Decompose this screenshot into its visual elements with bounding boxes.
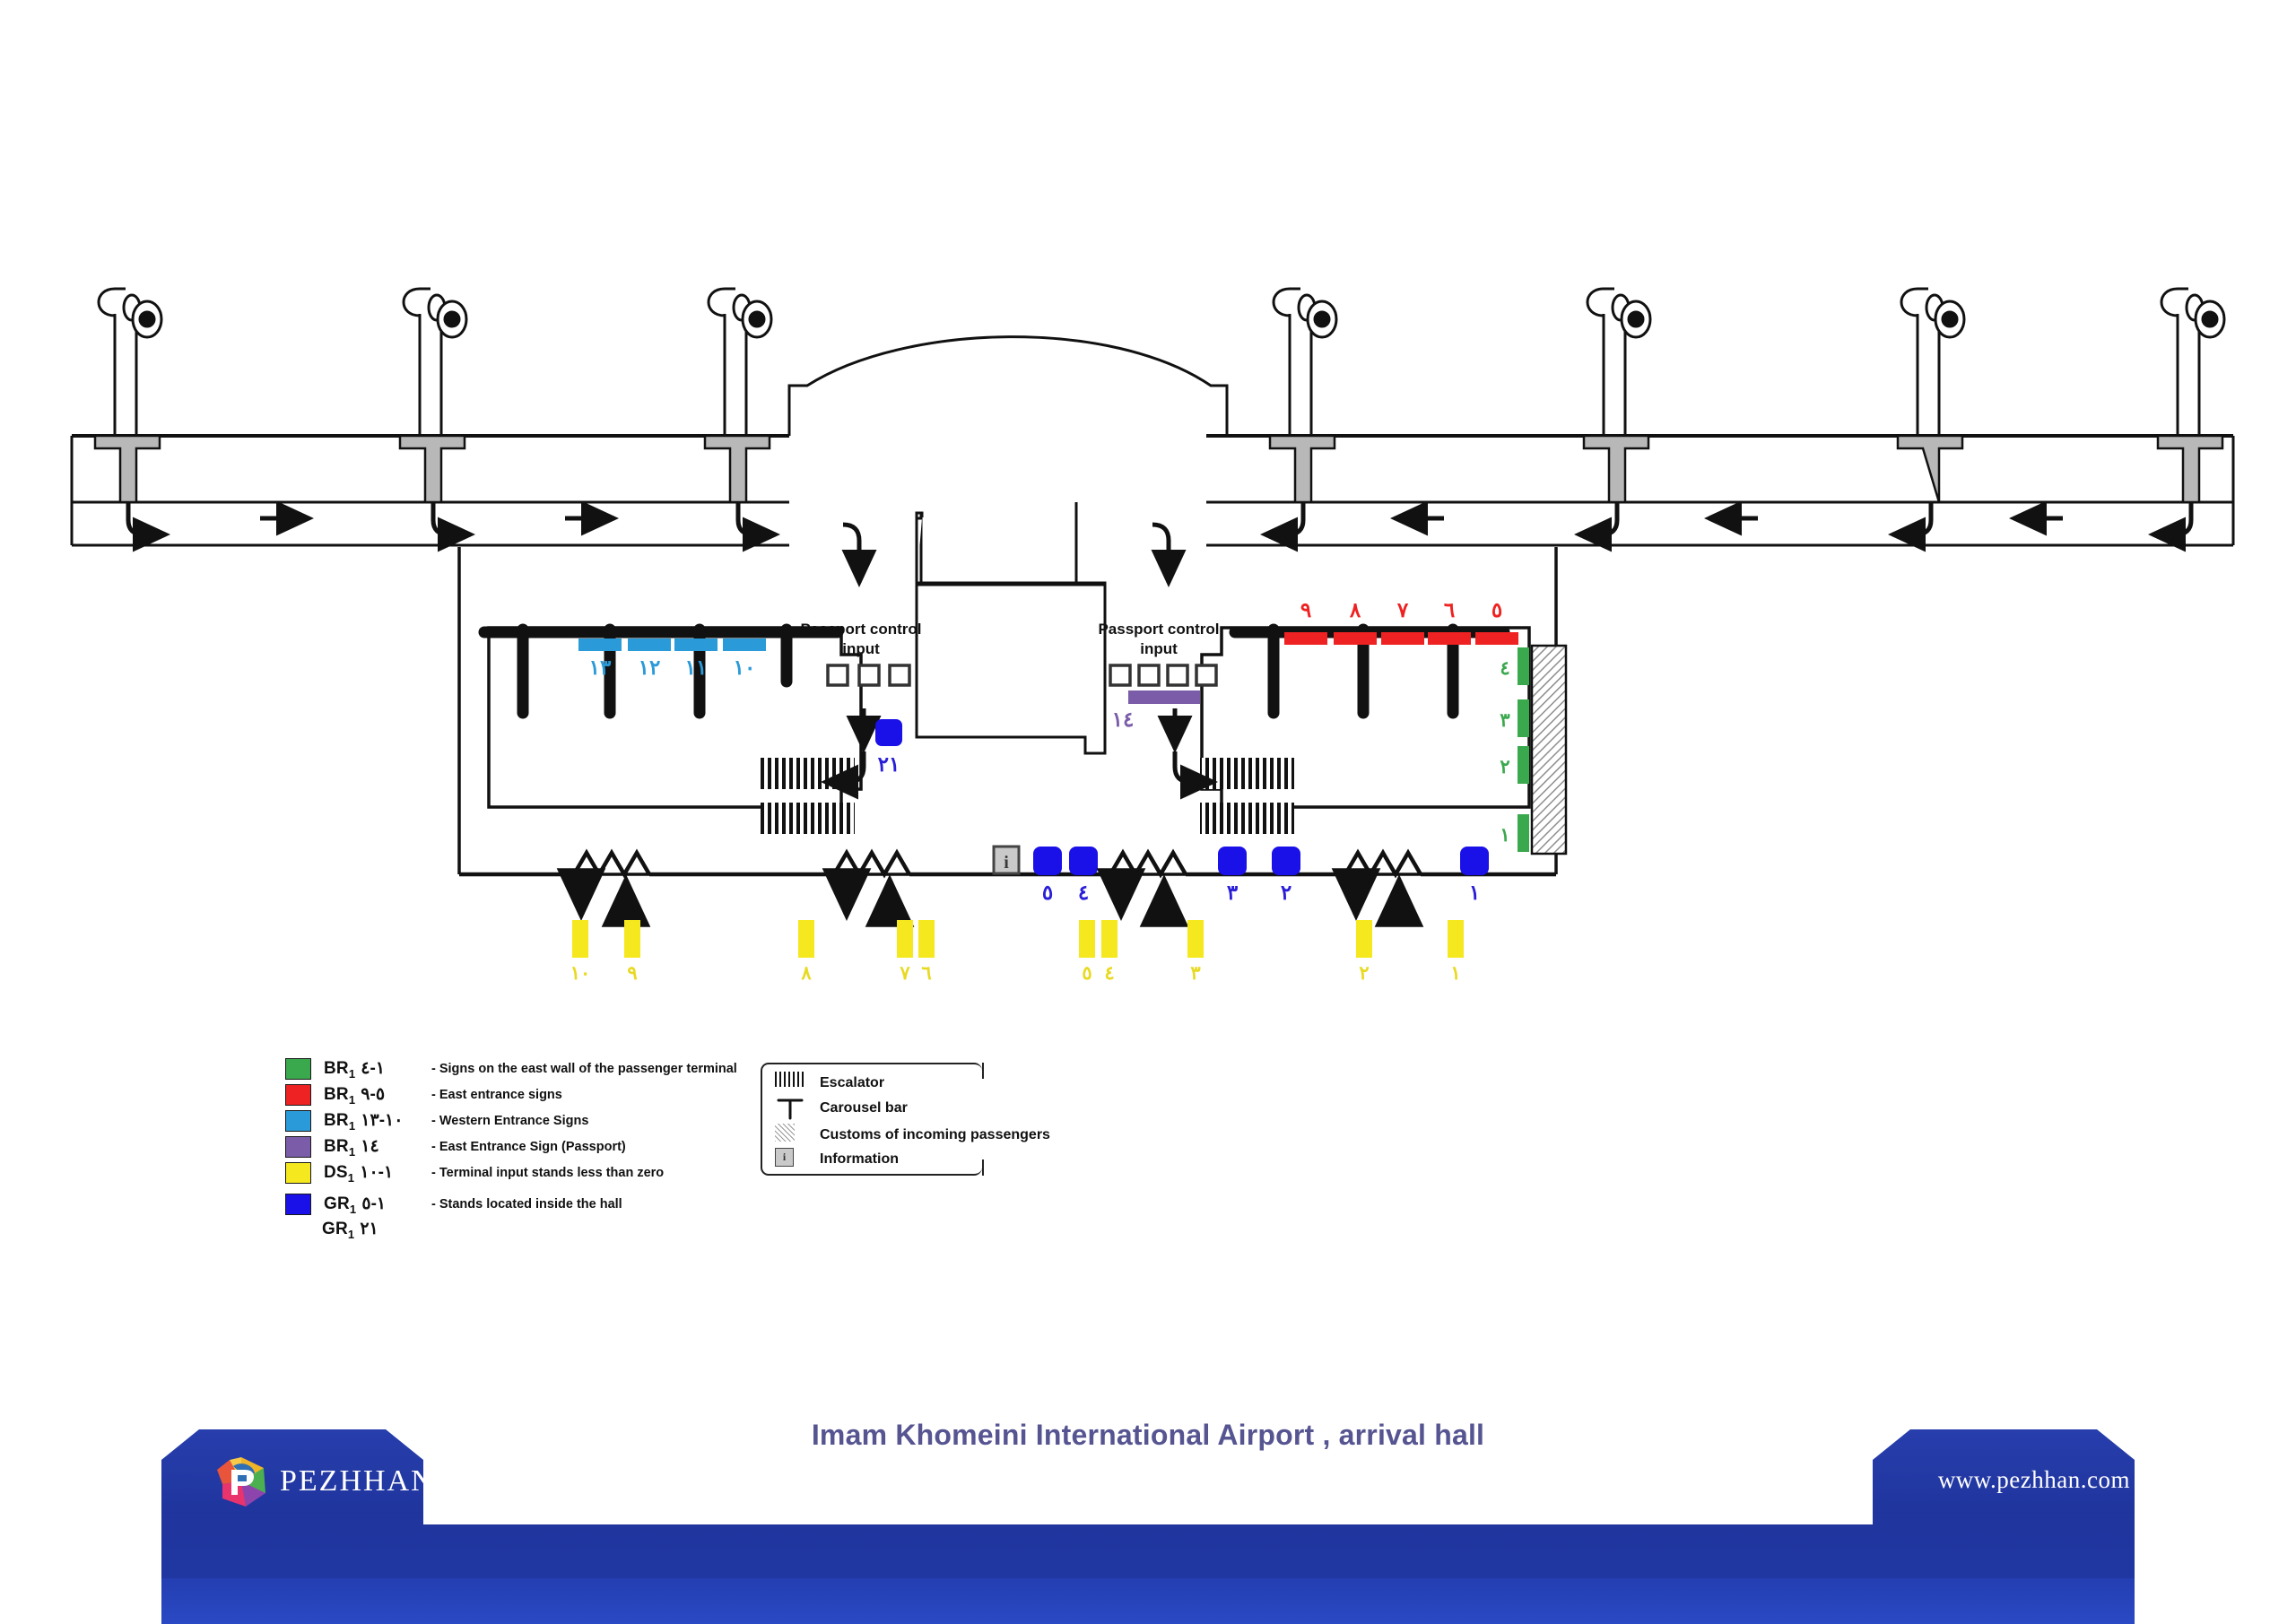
hall-stand-21: ٢١ [875, 719, 902, 776]
escalator-icon [1200, 803, 1294, 834]
customs-hatch-icon [1532, 646, 1566, 854]
legend-description: - East Entrance Sign (Passport) [431, 1140, 626, 1154]
legend-description: - Western Entrance Signs [431, 1114, 588, 1128]
passport-sign [1128, 690, 1200, 704]
legend-code: BR1١-٤ [324, 1058, 431, 1081]
sign-number: ١٢ [639, 656, 661, 679]
terminal-facade [789, 337, 1227, 436]
information-icon: i [994, 847, 1019, 873]
brand-logo: PEZHHAN [213, 1454, 435, 1509]
west-baggage-hall: ١٣ ١٢ ١١ ١٠ [484, 628, 861, 834]
stand-number: ٩ [627, 963, 637, 984]
passport-label-west-line1: Passport control [800, 621, 921, 638]
sign-number: ٩ [1300, 598, 1311, 621]
door-flow-arrows [581, 879, 1399, 916]
legend-description: - East entrance signs [431, 1088, 562, 1102]
legend-color-key: BR1١-٤ - Signs on the east wall of the p… [285, 1056, 737, 1241]
light-poles [95, 289, 2224, 502]
terminal-stands: ١٠ ٩ ٨ ٧ ٦ ٥ ٤ ٣ ٢ ١ [570, 920, 1464, 984]
information-icon: i [775, 1148, 814, 1171]
stand-number: ٤ [1104, 963, 1114, 984]
sign-number: ٧ [1396, 598, 1409, 621]
sign-number: ٦ [1444, 598, 1455, 621]
legend-code: BR1٥-٩ [324, 1084, 431, 1107]
carousel-bar-icon [775, 1097, 814, 1120]
stand-number: ٣ [1227, 881, 1239, 904]
legend-symbol-row: Carousel bar [775, 1097, 908, 1120]
sign-number: ٤ [1500, 658, 1509, 679]
legend-row: DS1١-١٠ - Terminal input stands less tha… [285, 1160, 737, 1185]
stand-number: ٢ [1281, 881, 1291, 904]
stand-number: ٢ [1359, 963, 1369, 984]
website-url: www.pezhhan.com [1938, 1466, 2130, 1494]
legend-symbol-label: Information [820, 1151, 899, 1168]
sign-number: ٥ [1492, 598, 1502, 621]
legend-code: DS1١-١٠ [324, 1162, 431, 1185]
legend-swatch [285, 1162, 311, 1184]
stand-number: ١ [1450, 963, 1460, 984]
legend-symbol-box: Escalator Carousel bar Customs of incomi… [761, 1063, 982, 1176]
legend-row: BR1٥-٩ - East entrance signs [285, 1082, 737, 1107]
customs-hatch-icon [775, 1124, 814, 1147]
legend-swatch [285, 1084, 311, 1106]
central-room-outline [917, 585, 1105, 753]
legend-row: BR1١٤ - East Entrance Sign (Passport) [285, 1134, 737, 1159]
legend-row-extra: GR1٢١ [322, 1218, 737, 1241]
legend-description: - Stands located inside the hall [431, 1197, 622, 1211]
traffic-arrows-east [1152, 502, 2191, 583]
legend-code: BR1١٤ [324, 1136, 431, 1159]
legend-symbol-label: Customs of incoming passengers [820, 1127, 1050, 1143]
sign-number: ١٣ [589, 656, 612, 679]
legend-description: - Signs on the east wall of the passenge… [431, 1062, 737, 1076]
stand-number: ١ [1469, 881, 1480, 904]
footer-banner [161, 1429, 2135, 1624]
legend-swatch [285, 1110, 311, 1132]
stand-number: ٣ [1190, 963, 1201, 984]
legend-symbol-label: Escalator [820, 1075, 884, 1091]
escalator-icon [761, 803, 855, 834]
legend-row: GR1١-٥ - Stands located inside the hall [285, 1192, 737, 1217]
sign-number: ١٠ [734, 656, 756, 679]
legend-code: GR1٢١ [322, 1219, 430, 1241]
passport-label-east-line1: Passport control [1098, 621, 1219, 638]
legend-row: BR1١٠-١٣ - Western Entrance Signs [285, 1108, 737, 1133]
east-baggage-hall: ٩ ٨ ٧ ٦ ٥ ٤ ٣ ٢ ١ [1200, 598, 1566, 854]
legend-swatch [285, 1058, 311, 1080]
stand-number: ٧ [899, 963, 910, 984]
stand-number: ٥ [1042, 881, 1053, 904]
legend-symbol-label: Carousel bar [820, 1100, 908, 1116]
svg-text:i: i [1004, 853, 1009, 873]
legend-description: - Terminal input stands less than zero [431, 1166, 664, 1180]
escalator-icon [775, 1072, 814, 1095]
page-title: Imam Khomeini International Airport , ar… [0, 1419, 2296, 1452]
stand-number: ٨ [800, 963, 812, 984]
passport-label-east-line2: input [1140, 640, 1178, 657]
legend-swatch [285, 1136, 311, 1158]
airport-floor-plan: ١٣ ١٢ ١١ ١٠ ٩ ٨ ٧ ٦ [0, 0, 2296, 1624]
sign-number: ١٤ [1112, 708, 1135, 731]
stand-number: ٤ [1078, 881, 1089, 904]
stand-number: ١٠ [570, 963, 591, 984]
aperture-logo-icon [213, 1454, 269, 1509]
sign-number: ١١ [685, 656, 708, 679]
legend-symbol-row: Escalator [775, 1072, 884, 1095]
sign-number: ٨ [1349, 598, 1361, 621]
sign-number: ١ [1500, 825, 1509, 846]
legend-code: BR1١٠-١٣ [324, 1110, 431, 1133]
curbside-roadway [72, 436, 2233, 545]
stand-number: ٦ [921, 963, 931, 984]
escalator-icon [1200, 758, 1294, 789]
traffic-arrows-west [128, 502, 859, 583]
legend-symbol-row: Customs of incoming passengers [775, 1124, 1050, 1147]
escalator-icon [761, 758, 855, 789]
legend-symbol-row: i Information [775, 1148, 899, 1171]
passport-label-west-line2: input [842, 640, 880, 657]
stand-number: ٢١ [878, 752, 900, 776]
central-core [917, 502, 1076, 583]
sign-number: ٣ [1500, 710, 1510, 731]
sign-number: ٢ [1500, 757, 1509, 777]
east-carousel-signs: ٩ ٨ ٧ ٦ ٥ [1284, 598, 1518, 645]
stand-number: ٥ [1082, 963, 1091, 984]
brand-name: PEZHHAN [280, 1464, 435, 1498]
legend-code: GR1١-٥ [324, 1194, 431, 1216]
legend-swatch [285, 1194, 311, 1215]
legend-row: BR1١-٤ - Signs on the east wall of the p… [285, 1056, 737, 1081]
